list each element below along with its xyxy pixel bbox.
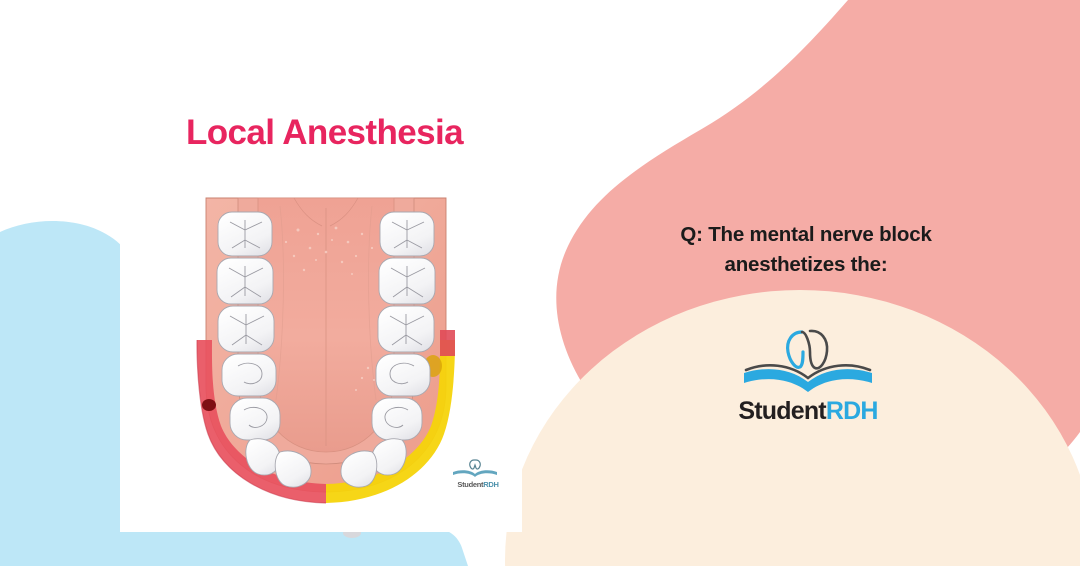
tooth-right-premolar-2 (378, 306, 434, 352)
tooth-right-premolar-1 (376, 354, 430, 396)
question-text: Q: The mental nerve block anesthetizes t… (620, 220, 992, 279)
blue-blob-left-shape (0, 221, 131, 566)
watermark-wordmark: StudentRDH (447, 480, 509, 489)
watermark-word-rdh: RDH (483, 480, 498, 489)
tooth-left-premolar-1 (222, 354, 276, 396)
tooth-right-molar-2 (380, 212, 434, 256)
red-cap-right (440, 330, 455, 356)
figure-watermark: StudentRDH (447, 458, 509, 489)
tooth-left-molar-2 (218, 212, 272, 256)
tooth-left-molar-1 (217, 258, 273, 304)
tooth-left-canine (230, 398, 280, 440)
brand-word-student: Student (738, 397, 825, 425)
brand-wordmark: StudentRDH (728, 397, 888, 426)
watermark-tooth-book-icon (447, 458, 509, 480)
injection-site-dot (202, 399, 216, 411)
brand-word-rdh: RDH (826, 397, 878, 425)
tooth-right-molar-1 (379, 258, 435, 304)
tooth-left-premolar-2 (218, 306, 274, 352)
page-title: Local Anesthesia (186, 113, 463, 153)
dental-arch-figure (176, 190, 476, 510)
blue-band-bottom-shape (0, 528, 468, 566)
slide-canvas: StudentRDH Local Anesthesia Q: The menta… (0, 0, 1080, 566)
brand-logo: StudentRDH (728, 326, 888, 426)
dental-arch-svg (176, 190, 476, 510)
tooth-right-canine (372, 398, 422, 440)
watermark-word-student: Student (457, 480, 483, 489)
brand-tooth-book-icon (728, 326, 888, 396)
